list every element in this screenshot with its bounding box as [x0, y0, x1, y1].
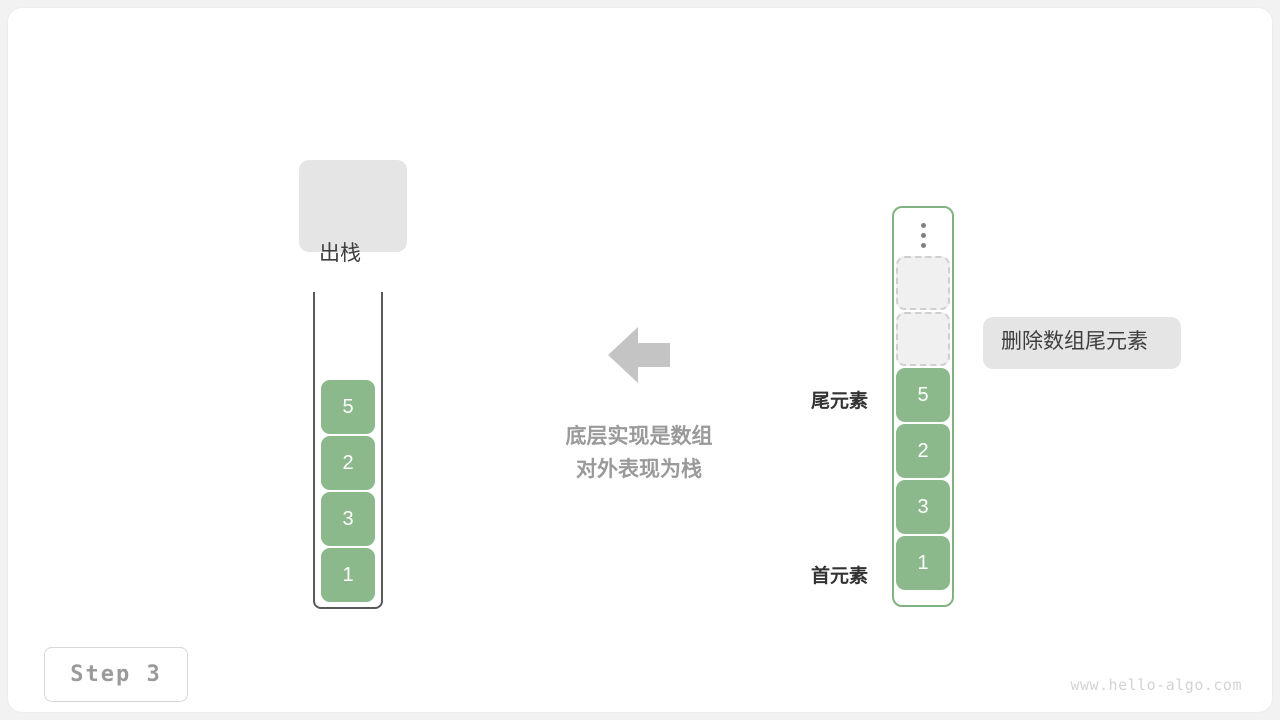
- diagram-canvas: 出栈 pop() 5 2 3 1 底层实现是数组 对外表现为栈 5 2 3: [8, 8, 1272, 712]
- center-caption-line1: 底层实现是数组: [489, 420, 789, 453]
- stack-cell: 2: [321, 436, 375, 490]
- stack-cell-list: 5 2 3 1: [315, 380, 381, 602]
- operation-callout-line1: 出栈: [319, 238, 387, 270]
- stack-cell: 3: [321, 492, 375, 546]
- array-cell: 3: [896, 480, 950, 534]
- array-cell-empty: [896, 256, 950, 310]
- step-badge: Step 3: [44, 647, 188, 702]
- stack-cell: 1: [321, 548, 375, 602]
- stack-container: 5 2 3 1: [313, 292, 383, 609]
- center-caption-line2: 对外表现为栈: [489, 453, 789, 486]
- arrow-left-icon: [608, 326, 670, 384]
- operation-callout: 出栈 pop(): [299, 160, 407, 252]
- array-cell: 1: [896, 536, 950, 590]
- watermark: www.hello-algo.com: [1070, 676, 1242, 694]
- array-cell-list: 5 2 3 1: [896, 256, 950, 590]
- stack-cell: 5: [321, 380, 375, 434]
- vertical-ellipsis-icon: [919, 216, 927, 254]
- array-cell: 5: [896, 368, 950, 422]
- array-tail-label: 尾元素: [758, 386, 868, 413]
- array-container: 5 2 3 1: [892, 206, 954, 607]
- array-cell: 2: [896, 424, 950, 478]
- center-caption: 底层实现是数组 对外表现为栈: [489, 420, 789, 486]
- array-cell-empty: [896, 312, 950, 366]
- array-head-label: 首元素: [758, 561, 868, 588]
- action-callout: 删除数组尾元素: [983, 317, 1181, 369]
